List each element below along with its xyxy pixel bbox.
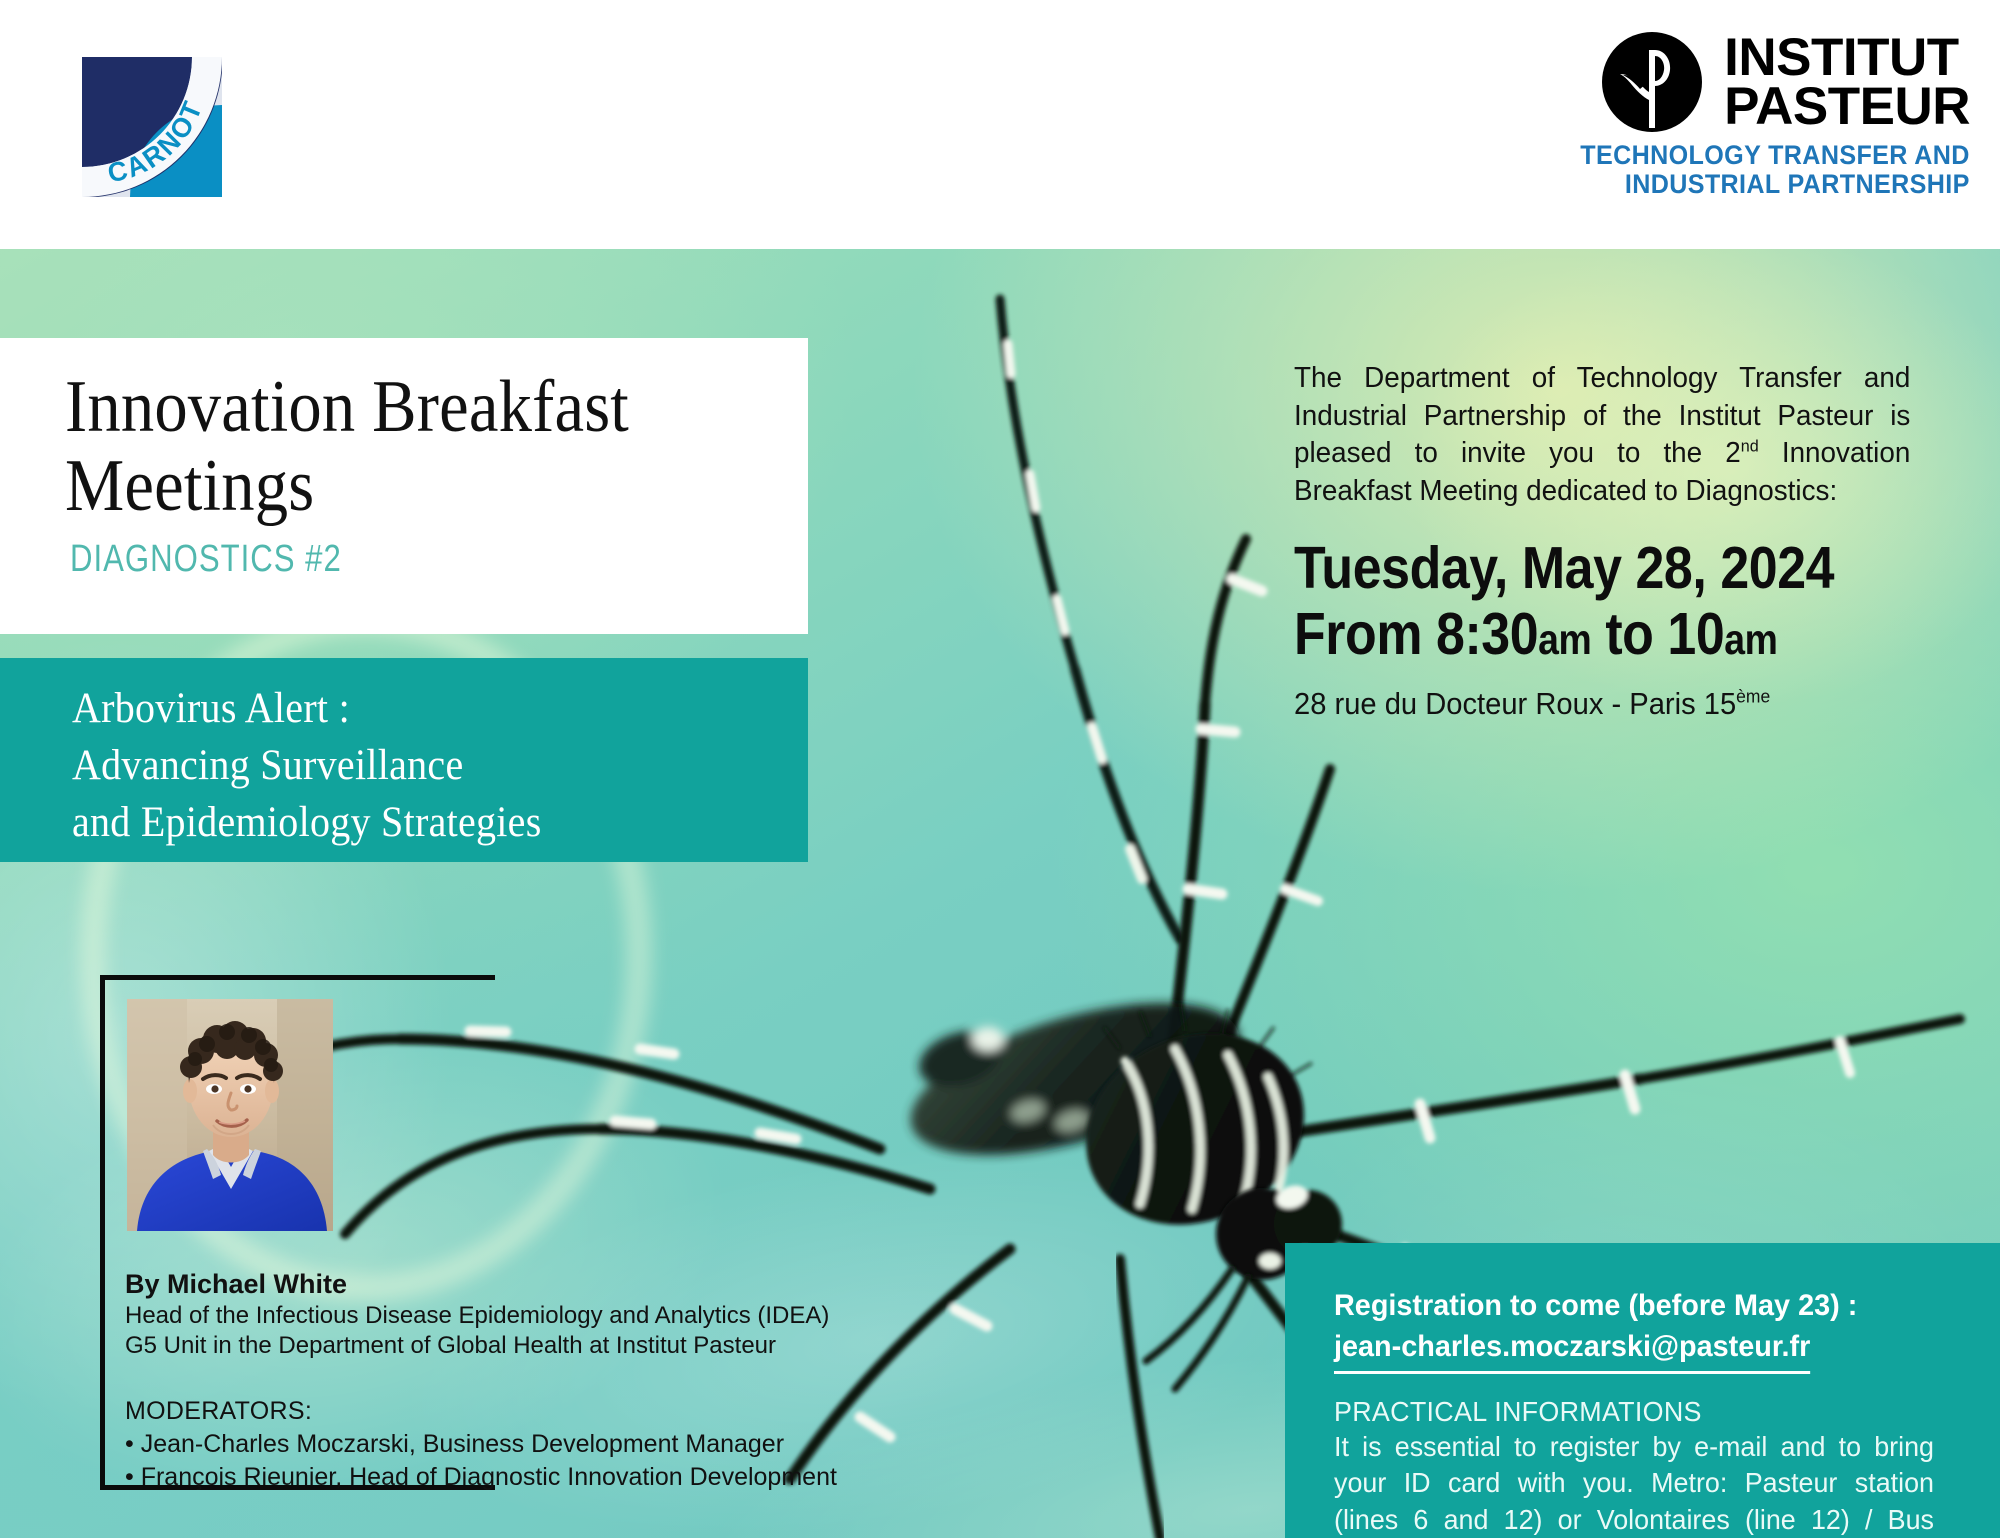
event-date: Tuesday, May 28, 2024 xyxy=(1294,535,1910,601)
page-title-line1: Innovation Breakfast xyxy=(65,368,722,447)
pasteur-department-label: TECHNOLOGY TRANSFER AND INDUSTRIAL PARTN… xyxy=(1581,141,1970,198)
event-address-text: 28 rue du Docteur Roux - Paris 15 xyxy=(1294,686,1736,721)
poster-header: CARNOT INSTITUT PASTEUR xyxy=(0,0,2000,249)
theme-band: Arbovirus Alert : Advancing Surveillance… xyxy=(0,658,808,862)
moderator-item: • Jean-Charles Moczarski, Business Devel… xyxy=(125,1428,885,1462)
institut-pasteur-logo: INSTITUT PASTEUR TECHNOLOGY TRANSFER AND… xyxy=(1551,32,1970,198)
event-datetime: Tuesday, May 28, 2024 From 8:30am to 10a… xyxy=(1294,535,1994,722)
event-time-middle: to 10 xyxy=(1591,601,1724,667)
practical-info-label: PRACTICAL INFORMATIONS xyxy=(1334,1394,1934,1429)
page-subtitle: DIAGNOSTICS #2 xyxy=(70,538,342,581)
theme-line-3: and Epidemiology Strategies xyxy=(72,794,742,851)
registration-heading: Registration to come (before May 23) : xyxy=(1334,1286,1934,1327)
theme-line-1: Arbovirus Alert : xyxy=(72,680,742,737)
registration-email-link[interactable]: jean-charles.moczarski@pasteur.fr xyxy=(1334,1327,1810,1374)
speaker-role-line2: G5 Unit in the Department of Global Heal… xyxy=(125,1331,885,1361)
event-poster: CARNOT INSTITUT PASTEUR xyxy=(0,0,2000,1538)
pasteur-circle-icon xyxy=(1602,32,1702,132)
carnot-logo-icon: CARNOT xyxy=(82,57,222,197)
page-title-line2: Meetings xyxy=(65,447,722,526)
speaker-portrait xyxy=(127,999,333,1231)
invitation-ordinal: nd xyxy=(1741,437,1759,456)
event-time: From 8:30am to 10am xyxy=(1294,601,1910,667)
pasteur-wordmark-line2: PASTEUR xyxy=(1724,82,1970,131)
event-address-ordinal: ème xyxy=(1736,686,1770,707)
theme-band-text: Arbovirus Alert : Advancing Surveillance… xyxy=(72,680,742,852)
portrait-photo xyxy=(127,999,333,1231)
event-time-unit-end: am xyxy=(1724,617,1777,664)
event-time-unit-start: am xyxy=(1538,617,1591,664)
speaker-role-line1: Head of the Infectious Disease Epidemiol… xyxy=(125,1301,885,1331)
pasteur-department-line2: INDUSTRIAL PARTNERSHIP xyxy=(1581,170,1970,199)
moderator-item: • François Rieunier, Head of Diagnostic … xyxy=(125,1461,885,1495)
event-time-start: From 8:30 xyxy=(1294,601,1538,667)
practical-info-text: It is essential to register by e-mail an… xyxy=(1334,1429,1934,1538)
theme-line-2: Advancing Surveillance xyxy=(72,737,742,794)
moderators-label: MODERATORS: xyxy=(125,1395,885,1428)
speaker-name: By Michael White xyxy=(125,1268,885,1301)
pasteur-wordmark: INSTITUT PASTEUR xyxy=(1724,33,1970,132)
pasteur-wordmark-line1: INSTITUT xyxy=(1724,33,1970,82)
carnot-logo: CARNOT xyxy=(82,57,222,197)
title-panel: Innovation Breakfast Meetings DIAGNOSTIC… xyxy=(0,338,808,634)
registration-panel: Registration to come (before May 23) : j… xyxy=(1285,1243,2000,1538)
speaker-info: By Michael White Head of the Infectious … xyxy=(125,1268,885,1495)
invitation-paragraph: The Department of Technology Transfer an… xyxy=(1294,360,1936,511)
page-title: Innovation Breakfast Meetings xyxy=(65,368,722,526)
event-address: 28 rue du Docteur Roux - Paris 15ème xyxy=(1294,685,1952,722)
pasteur-department-line1: TECHNOLOGY TRANSFER AND xyxy=(1581,141,1970,170)
